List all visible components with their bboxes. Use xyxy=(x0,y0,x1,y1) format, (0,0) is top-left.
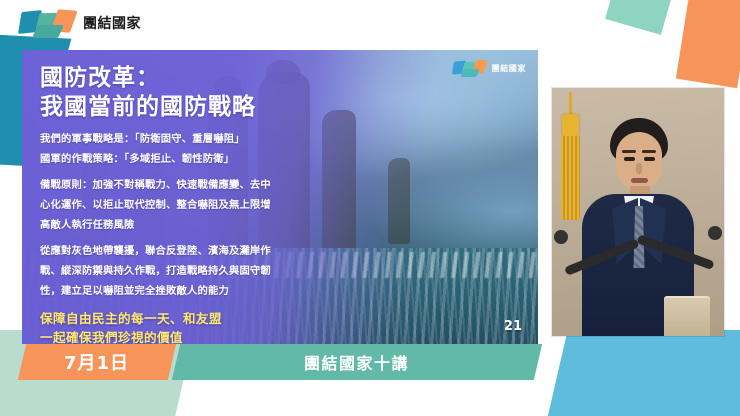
slide-highlight-line-2: 一起確保我們珍視的價值 xyxy=(40,329,370,344)
slide-paragraph-line: 國軍的作戰策略：「多域拒止、韌性防衛」 xyxy=(40,151,370,168)
speaker-eyebrow-left xyxy=(622,150,636,153)
decoration-topright-mint-shape xyxy=(605,0,677,35)
presentation-slide: 團結國家 國防改革： 我國當前的國防戰略 我們的軍事戰略是：「防衛固守、重層嚇阻… xyxy=(22,50,538,344)
slide-content: 國防改革： 我國當前的國防戰略 我們的軍事戰略是：「防衛固守、重層嚇阻」 國軍的… xyxy=(40,64,370,344)
slide-paragraph-line: 從應對灰色地帶襲擾，聯合反登陸、濱海及灘岸作 xyxy=(40,243,370,260)
slide-title-line-1: 國防改革： xyxy=(40,64,370,93)
slide-paragraph-line: 戰、縱深防禦與持久作戰，打造戰略持久與固守韌 xyxy=(40,263,370,280)
speaker-mouth xyxy=(631,178,648,183)
microphone-head-left xyxy=(554,230,568,244)
tassel-cord xyxy=(569,92,572,116)
caption-bar: 7月1日 團結國家十講 xyxy=(0,344,740,380)
decoration-topright-orange-shape xyxy=(676,0,740,88)
logo-shape-tail xyxy=(460,69,480,77)
union-nation-logo-icon xyxy=(453,60,487,77)
slide-highlight-line-1: 保障自由民主的每一天、和友盟 xyxy=(40,310,370,329)
speaker-eye-left xyxy=(624,157,635,161)
slide-paragraph-line: 高敵人執行任務風險 xyxy=(40,217,370,234)
slide-logo-label: 團結國家 xyxy=(492,63,526,74)
slide-paragraph-line: 備戰原則：加強不對稱戰力、快速戰備應變、去中 xyxy=(40,177,370,194)
speaker-video-panel[interactable] xyxy=(552,88,724,336)
caption-date-label: 7月1日 xyxy=(64,349,129,375)
caption-series-badge: 團結國家十講 xyxy=(172,344,542,380)
podium xyxy=(664,296,710,336)
speaker-eye-right xyxy=(644,157,655,161)
slide-logo: 團結國家 xyxy=(453,60,526,77)
screen-root: 團結國家 團結國家 國防改革： 我國當前的國防戰略 xyxy=(0,0,740,416)
brand-header: 團結國家 xyxy=(20,9,141,37)
slide-page-number: 21 xyxy=(504,319,522,334)
slide-paragraph-line: 我們的軍事戰略是：「防衛固守、重層嚇阻」 xyxy=(40,131,370,148)
tassel-fringe xyxy=(561,136,580,220)
slide-paragraph-line: 性，建立足以嚇阻並完全挫敗敵人的能力 xyxy=(40,283,370,300)
slide-title-line-2: 我國當前的國防戰略 xyxy=(40,93,370,122)
speaker-nose xyxy=(636,163,642,174)
speaker-eyebrow-right xyxy=(642,150,656,153)
tassel-knot xyxy=(562,114,579,136)
union-nation-logo-icon xyxy=(20,9,76,37)
brand-name-label: 團結國家 xyxy=(83,13,141,33)
logo-shape-tail xyxy=(32,25,64,38)
slide-paragraph-line: 心化運作、以拒止取代控制、整合嚇阻及無上限增 xyxy=(40,197,370,214)
microphone-head-right xyxy=(708,226,722,240)
caption-date-badge: 7月1日 xyxy=(18,344,176,380)
chinese-knot-tassel-icon xyxy=(558,92,582,224)
caption-series-label: 團結國家十講 xyxy=(304,350,409,374)
